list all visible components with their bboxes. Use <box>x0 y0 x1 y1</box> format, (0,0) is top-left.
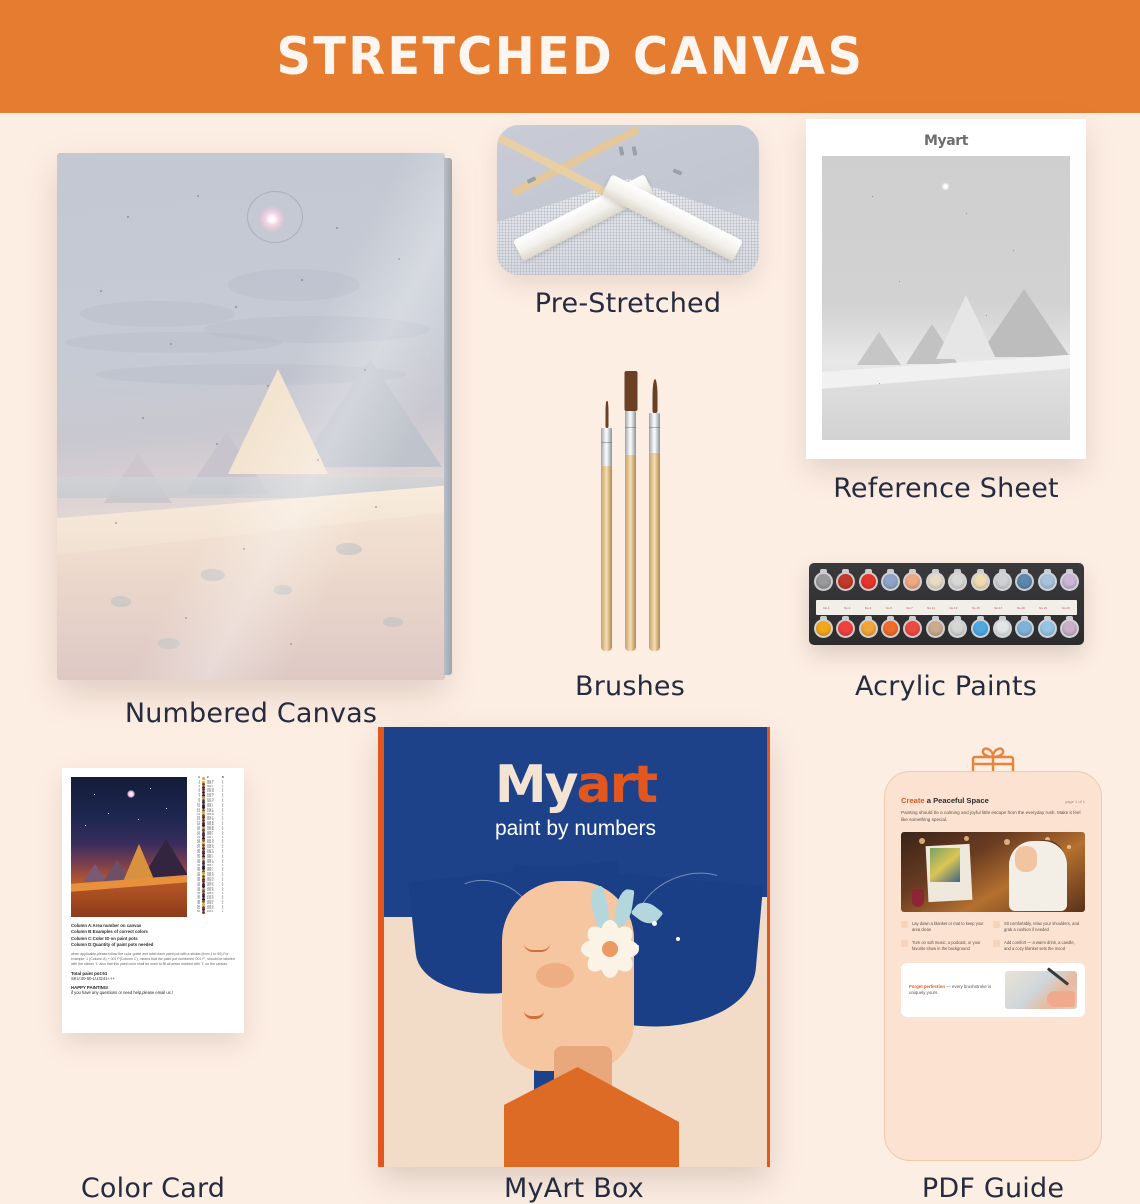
paint-pot <box>948 616 967 645</box>
reference-sheet-artwork <box>822 156 1070 440</box>
pot-lid <box>926 619 945 638</box>
pdf-guide-photo <box>901 832 1085 912</box>
pot-lid <box>1060 572 1079 591</box>
painting-on-easel <box>930 848 960 882</box>
paint-pot <box>881 569 900 598</box>
staple-icon <box>619 146 625 156</box>
color-legend-table: A C D 1001 P12005 I13002 I14007 D15013 D… <box>193 777 235 917</box>
pot-lid <box>881 572 900 591</box>
paint-pot <box>948 569 967 598</box>
paint-number-label: No.23 <box>1062 606 1070 610</box>
paint-pot <box>814 569 833 598</box>
paint-pot <box>971 616 990 645</box>
label-pre-stretched: Pre-Stretched <box>497 288 759 319</box>
legend-color-swatch <box>202 911 205 914</box>
cc-line-b: Column B:Examples of correct colors <box>71 929 148 934</box>
tip-icon <box>993 921 1000 928</box>
logo-art: art <box>577 755 657 815</box>
paint-number-label: No.3 <box>865 606 871 610</box>
reference-sheet-image: Myart <box>806 119 1086 459</box>
pot-lid <box>993 619 1012 638</box>
note-accent: Forget perfection <box>909 984 945 989</box>
paint-pot <box>1060 569 1079 598</box>
myart-logo: Myart <box>384 727 767 815</box>
pot-lid <box>881 619 900 638</box>
myart-box-image: Myart paint by numbers <box>378 727 770 1167</box>
paint-number-label: No.17 <box>994 606 1002 610</box>
color-card-help: if you have any questions or need help,p… <box>71 990 235 995</box>
legend-color-id: 220 1 <box>207 911 220 914</box>
painter-face <box>1015 846 1037 872</box>
label-numbered-canvas: Numbered Canvas <box>57 698 445 729</box>
pot-lid <box>814 572 833 591</box>
cc-line-a: Column A:Area number on canvas <box>71 923 141 928</box>
color-card-fine-print: when applicable,please follow the color … <box>71 952 235 967</box>
daisy-flower-icon <box>580 919 640 979</box>
pdf-guide-tip: Turn on soft music, a podcast, or your f… <box>901 940 993 952</box>
wine-glass <box>912 889 924 907</box>
pot-lid <box>903 619 922 638</box>
legend-quantity: 1 <box>222 911 227 914</box>
pot-lid <box>993 572 1012 591</box>
title-accent: Create <box>901 796 925 805</box>
cheek-blush <box>536 963 574 988</box>
brush-liner <box>601 401 612 651</box>
color-card-columns-desc: Column A:Area number on canvas Column B:… <box>71 923 235 949</box>
label-color-card: Color Card <box>42 1173 264 1204</box>
paint-pot <box>881 616 900 645</box>
brush-flat <box>625 371 636 651</box>
paint-number-label: No.13 <box>949 606 957 610</box>
pot-lid <box>1060 619 1079 638</box>
paint-pot <box>1038 569 1057 598</box>
pdf-guide-title: Create a Peaceful Space <box>901 796 989 805</box>
pre-stretched-photo <box>497 125 759 275</box>
pot-lid <box>814 619 833 638</box>
logo-my: My <box>495 755 577 815</box>
tip-text: Turn on soft music, a podcast, or your f… <box>912 940 988 952</box>
color-card-image: A C D 1001 P12005 I13002 I14007 D15013 D… <box>62 768 244 1033</box>
pdf-guide-image: Create a Peaceful Space page 1 of 1 Pain… <box>878 743 1108 1167</box>
pot-lid <box>926 572 945 591</box>
pot-lid <box>1038 572 1057 591</box>
products-stage: Numbered Canvas Pre-Stretched Myart Refe… <box>0 113 1140 1140</box>
paint-number-label: No.1 <box>823 606 829 610</box>
page-header-banner: STRETCHED CANVAS <box>0 0 1140 113</box>
brush-round <box>649 379 660 651</box>
staple-icon <box>632 146 638 156</box>
pdf-guide-tips: Lay down a blanket or mat to keep your a… <box>901 921 1085 960</box>
moon-icon <box>127 790 135 798</box>
pot-lid <box>1015 572 1034 591</box>
box-illustration <box>384 871 767 1167</box>
canvas-gloss <box>57 153 445 680</box>
paint-pot <box>926 569 945 598</box>
cc-line-d: Column D:Quantity of paint pots needed <box>71 942 153 947</box>
paint-pot <box>903 569 922 598</box>
paint-pot <box>993 616 1012 645</box>
paint-pot <box>1060 616 1079 645</box>
paint-pot <box>993 569 1012 598</box>
paint-number-label: No.2 <box>844 606 850 610</box>
tip-icon <box>901 940 908 947</box>
paint-pot <box>836 569 855 598</box>
label-brushes: Brushes <box>500 671 760 702</box>
paint-pot <box>859 569 878 598</box>
pot-lid <box>1015 619 1034 638</box>
label-acrylic-paints: Acrylic Paints <box>806 671 1086 702</box>
note-thumbnail <box>1005 971 1077 1009</box>
canvas-artwork <box>57 153 445 680</box>
pot-lid <box>859 619 878 638</box>
paint-pot <box>814 616 833 645</box>
paint-pot <box>1038 616 1057 645</box>
label-myart-box: MyArt Box <box>378 1173 770 1204</box>
pot-lid <box>836 572 855 591</box>
paint-number-label: No.15 <box>972 606 980 610</box>
paint-pot <box>836 616 855 645</box>
paint-pot <box>926 616 945 645</box>
paint-number-label: No.7 <box>906 606 912 610</box>
paint-pot <box>971 569 990 598</box>
paint-number-label: No.5 <box>886 606 892 610</box>
pot-lid <box>948 619 967 638</box>
canvas-side-edge <box>444 158 452 675</box>
cc-line-c: Column C:Color ID on paint pots <box>71 936 138 941</box>
acrylic-paints-tray: No.1No.2No.3No.5No.7No.11No.13No.15No.17… <box>809 563 1084 645</box>
legend-area-number: 52 <box>193 911 200 914</box>
tip-icon <box>901 921 908 928</box>
tip-icon <box>993 940 1000 947</box>
tip-text: Sit comfortably, relax your shoulders, a… <box>1004 921 1080 933</box>
pot-lid <box>971 619 990 638</box>
pdf-guide-tip: Lay down a blanket or mat to keep your a… <box>901 921 993 933</box>
staple-icon <box>673 168 683 175</box>
label-reference-sheet: Reference Sheet <box>806 473 1086 504</box>
color-card-artwork <box>71 777 187 917</box>
pdf-page-label: page 1 of 1 <box>1065 799 1085 804</box>
pot-lid <box>836 619 855 638</box>
tip-text: Add comfort — a warm drink, a candle, an… <box>1004 940 1080 952</box>
pot-lid <box>948 572 967 591</box>
legend-row: 52220 11 <box>193 911 235 914</box>
color-card-sku: SKU:40-50-LU3241+++ <box>71 976 235 981</box>
title-rest: a Peaceful Space <box>925 796 989 805</box>
paint-label-strip: No.1No.2No.3No.5No.7No.11No.13No.15No.17… <box>816 600 1077 615</box>
paint-pot <box>903 616 922 645</box>
pencil-icon <box>1047 968 1069 986</box>
page-title: STRETCHED CANVAS <box>276 27 864 87</box>
tip-text: Lay down a blanket or mat to keep your a… <box>912 921 988 933</box>
pdf-guide-description: Painting should be a calming and joyful … <box>901 810 1085 824</box>
hand <box>1047 991 1075 1007</box>
pot-lid <box>903 572 922 591</box>
paint-number-label: No.21 <box>1039 606 1047 610</box>
myart-subtitle: paint by numbers <box>384 817 767 841</box>
pot-lid <box>859 572 878 591</box>
pot-lid <box>1038 619 1057 638</box>
paint-pot <box>1015 569 1034 598</box>
paint-pot <box>859 616 878 645</box>
label-pdf-guide: PDF Guide <box>878 1173 1108 1204</box>
reference-sheet-logo: Myart <box>822 133 1070 149</box>
paint-pot-row-top <box>814 569 1079 599</box>
paint-number-label: No.11 <box>927 606 935 610</box>
pdf-guide-tip: Sit comfortably, relax your shoulders, a… <box>993 921 1085 933</box>
pot-lid <box>971 572 990 591</box>
paint-pot-row-bottom <box>814 616 1079 646</box>
pdf-guide-tip: Add comfort — a warm drink, a candle, an… <box>993 940 1085 952</box>
pdf-guide-card: Create a Peaceful Space page 1 of 1 Pain… <box>884 771 1102 1161</box>
numbered-canvas-image <box>57 153 445 680</box>
paint-pot <box>1015 616 1034 645</box>
pdf-guide-note: Forget perfection — every brushstroke is… <box>901 963 1085 1017</box>
brushes-image <box>583 361 677 651</box>
paint-number-label: No.19 <box>1017 606 1025 610</box>
